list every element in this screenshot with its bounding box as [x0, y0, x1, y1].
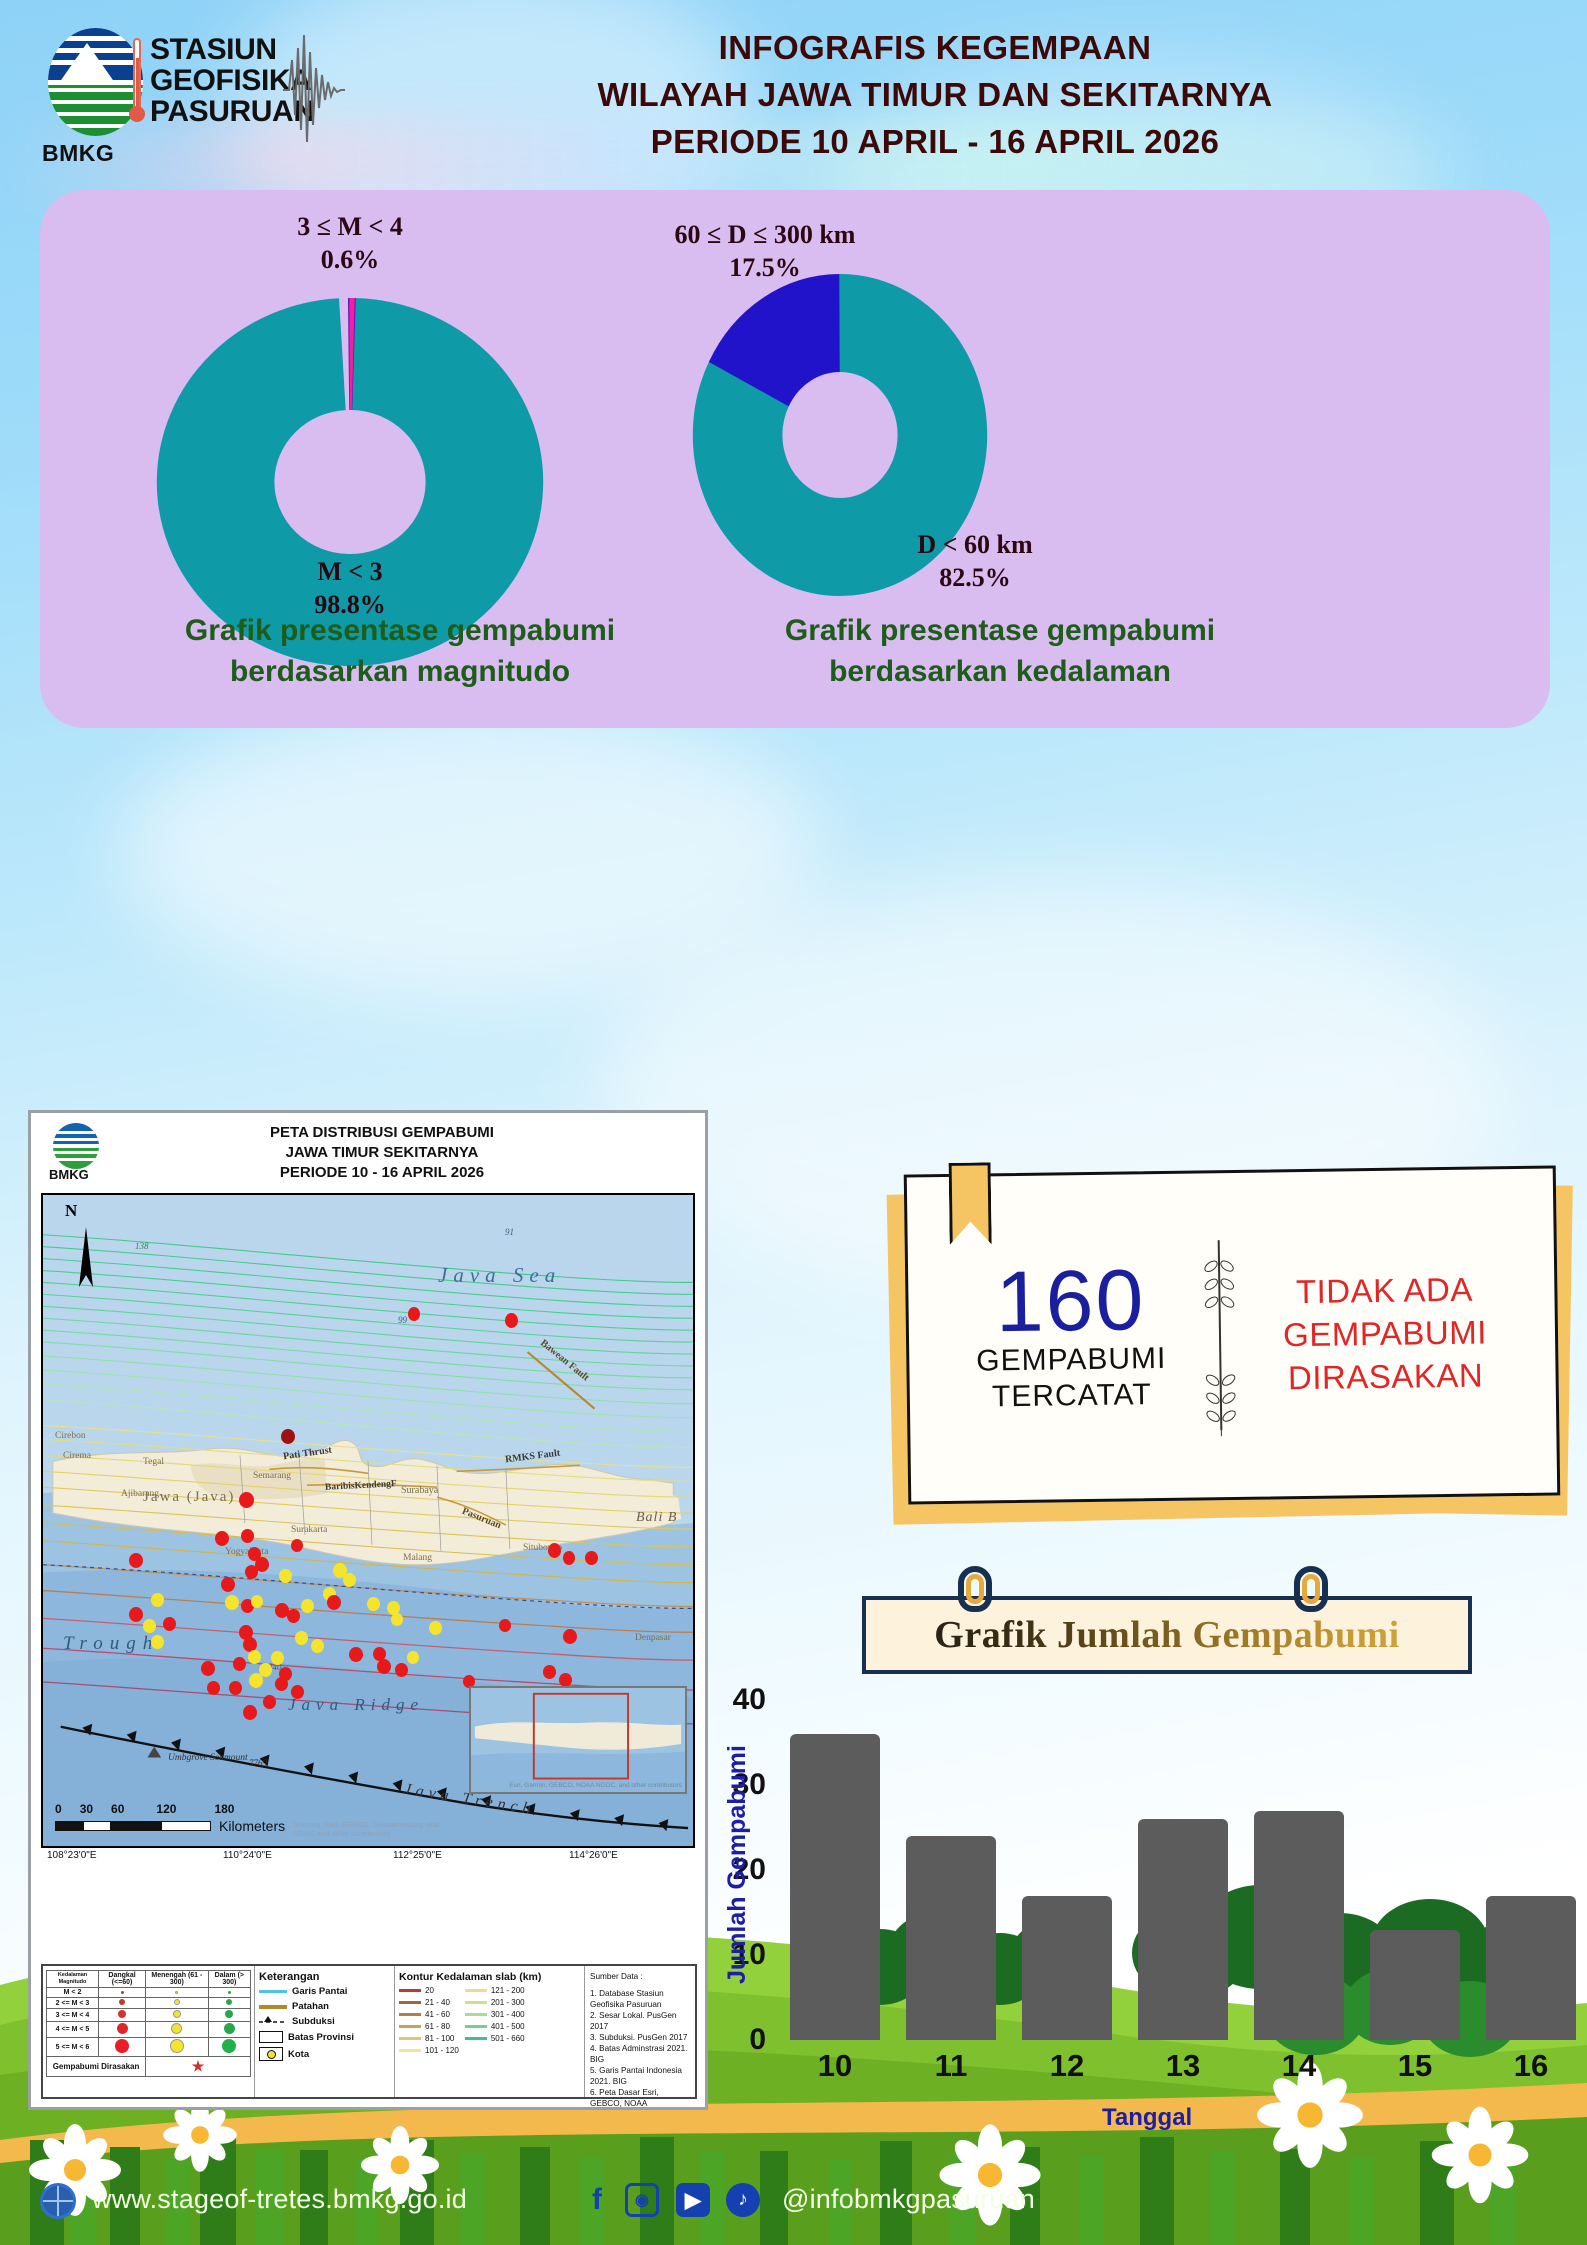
quake-dot — [291, 1539, 303, 1552]
quake-dot — [239, 1492, 254, 1508]
province-box-icon — [259, 2031, 283, 2043]
vine-icon — [1199, 1234, 1242, 1447]
instagram-icon[interactable]: ◉ — [625, 2183, 659, 2217]
quake-count-label-2: TERCATAT — [934, 1376, 1210, 1416]
sumber-item-3: 3. Subduksi. PusGen 2017 — [590, 2032, 690, 2043]
depth-label-bottom-name: D < 60 km — [830, 528, 1120, 561]
depth-label-top-name: 60 ≤ D ≤ 300 km — [600, 218, 930, 251]
globe-icon — [40, 2183, 76, 2219]
bar-11 — [906, 1836, 996, 2040]
map-header: BMKG PETA DISTRIBUSI GEMPABUMI JAWA TIMU… — [31, 1113, 705, 1189]
website-url[interactable]: www.stageof-tretes.bmkg.go.id — [92, 2184, 467, 2215]
fault-line-icon — [259, 2005, 287, 2009]
quake-dot — [559, 1673, 572, 1687]
quake-dot — [301, 1599, 314, 1613]
map-title-line-2: JAWA TIMUR SEKITARNYA — [119, 1143, 645, 1163]
magnitude-label-bottom-name: M < 3 — [230, 555, 470, 588]
quake-dot — [311, 1639, 324, 1653]
quake-dot — [263, 1695, 276, 1709]
lon-label-4: 114°26'0"E — [569, 1850, 618, 1861]
bar-10 — [790, 1734, 880, 2040]
title-line-2: WILAYAH JAWA TIMUR DAN SEKITARNYA — [330, 71, 1540, 118]
lon-label-2: 110°24'0"E — [223, 1850, 272, 1861]
matrix-row-1: 2 <= M < 3 — [47, 1998, 99, 2009]
felt-alert-line-3: DIRASAKAN — [1231, 1352, 1540, 1399]
quake-dot — [143, 1619, 156, 1633]
x-tick-16: 16 — [1514, 2048, 1548, 2084]
quake-dot — [229, 1681, 242, 1695]
bar-chart-y-label: Jumlah Gempabumi — [723, 1745, 752, 1984]
map-bmkg-logo: BMKG — [49, 1123, 105, 1183]
quake-dot — [343, 1573, 356, 1587]
kontur-col-left: 20 21 - 40 41 - 60 61 - 80 81 - 100 101 … — [399, 1986, 459, 2058]
bar-14 — [1254, 1811, 1344, 2041]
scale-tick-60: 60 — [111, 1802, 124, 1816]
keterangan-item-subduksi: Subduksi — [259, 2016, 390, 2027]
subduction-line-icon — [259, 2016, 287, 2027]
keterangan-item-patahan: Patahan — [259, 2001, 390, 2012]
quake-dot — [248, 1650, 261, 1664]
y-tick-0: 0 — [749, 2023, 766, 2057]
quake-dot — [251, 1595, 263, 1608]
title-line-1: INFOGRAFIS KEGEMPAAN — [330, 24, 1540, 71]
keterangan-item-garis-pantai: Garis Pantai — [259, 1986, 390, 1997]
quake-dot — [151, 1593, 164, 1607]
x-tick-12: 12 — [1050, 2048, 1084, 2084]
quake-dot — [249, 1673, 263, 1688]
magnitude-label-top-pct: 0.6% — [230, 243, 470, 276]
x-tick-15: 15 — [1398, 2048, 1432, 2084]
quake-dot — [543, 1665, 556, 1679]
thermometer-icon — [128, 38, 146, 134]
depth-label-bottom-pct: 82.5% — [830, 561, 1120, 594]
bar-13 — [1138, 1819, 1228, 2040]
keterangan-item-kota: Kota — [259, 2047, 390, 2061]
note-card-face: 160 GEMPABUMI TERCATAT — [904, 1165, 1561, 1504]
quake-dot — [281, 1429, 295, 1444]
quake-dot — [241, 1529, 254, 1543]
quake-dot — [215, 1531, 229, 1546]
quake-dot — [395, 1663, 408, 1677]
quake-count-value: 160 — [932, 1258, 1209, 1344]
quake-dot — [377, 1659, 391, 1674]
scale-tick-30: 30 — [80, 1802, 93, 1816]
longitude-axis: 108°23'0"E 110°24'0"E 112°25'0"E 114°26'… — [41, 1850, 695, 1868]
quake-dot — [275, 1677, 288, 1691]
sumber-item-6: 6. Peta Dasar Esri, GEBCO, NOAA — [590, 2087, 690, 2109]
quake-dot — [207, 1681, 220, 1695]
coastline-line-icon — [259, 1990, 287, 1993]
magnitude-label-top-name: 3 ≤ M < 4 — [230, 210, 470, 243]
matrix-row-4: 5 <= M < 6 — [47, 2038, 99, 2057]
city-icon — [259, 2047, 283, 2061]
percentage-charts-card: 3 ≤ M < 4 0.6% M < 3 98.8% Grafik presen… — [40, 190, 1550, 728]
sumber-item-2: 2. Sesar Lokal. PusGen 2017 — [590, 2010, 690, 2032]
matrix-corner-bottom: Magnitudo — [59, 1979, 87, 1985]
quake-dot — [429, 1621, 442, 1635]
quake-dot — [201, 1661, 215, 1676]
sumber-title: Sumber Data : — [590, 1971, 690, 1982]
scale-tick-0: 0 — [55, 1802, 62, 1816]
quake-dot — [129, 1607, 143, 1622]
matrix-col-0: Dangkal (<=60) — [99, 1971, 146, 1988]
kontur-col-right: 121 - 200 201 - 300 301 - 400 401 - 500 … — [465, 1986, 525, 2058]
quake-dot — [221, 1577, 235, 1592]
tiktok-icon[interactable]: ♪ — [726, 2183, 760, 2217]
scale-unit-label: Kilometers — [219, 1818, 285, 1834]
footer: www.stageof-tretes.bmkg.go.id f ◉ ▶ ♪ @i… — [0, 2140, 1587, 2245]
map-title-line-3: PERIODE 10 - 16 APRIL 2026 — [119, 1163, 645, 1183]
map-bmkg-label: BMKG — [49, 1167, 89, 1182]
map-canvas[interactable]: N Java Sea Jawa (Java) Trough Java Ridge… — [41, 1193, 695, 1848]
bar-15 — [1370, 1930, 1460, 2041]
quake-dot — [585, 1551, 598, 1565]
x-tick-13: 13 — [1166, 2048, 1200, 2084]
matrix-col-1: Menengah (61 - 300) — [146, 1971, 209, 1988]
quake-count-block: 160 GEMPABUMI TERCATAT — [908, 1258, 1210, 1416]
sumber-item-5: 5. Garis Pantai Indonesia 2021. BIG — [590, 2065, 690, 2087]
quake-count-label-1: GEMPABUMI — [933, 1340, 1209, 1380]
title-line-3: PERIODE 10 APRIL - 16 APRIL 2026 — [330, 118, 1540, 165]
depth-caption-line-1: Grafik presentase gempabumi — [600, 610, 1400, 651]
quake-dot — [295, 1631, 308, 1645]
quake-dot — [327, 1595, 341, 1610]
legend-keterangan: Keterangan Garis Pantai Patahan Subduksi… — [255, 1966, 395, 2097]
chart-banner: Grafik Jumlah Gempabumi — [862, 1582, 1472, 1674]
header: BMKG STASIUN GEOFISIKA PASURUAN INFOGRAF… — [0, 0, 1587, 185]
quake-dot — [287, 1609, 300, 1623]
quake-dot — [291, 1685, 304, 1699]
matrix-row-3: 4 <= M < 5 — [47, 2022, 99, 2038]
chart-banner-title: Grafik Jumlah Gempabumi — [862, 1596, 1472, 1674]
quake-dot — [163, 1617, 176, 1631]
summary-note-card: 160 GEMPABUMI TERCATAT — [890, 1170, 1580, 1530]
quake-dot — [243, 1705, 257, 1720]
kontur-title: Kontur Kedalaman slab (km) — [399, 1971, 580, 1983]
quake-dot — [408, 1307, 420, 1321]
x-tick-11: 11 — [935, 2048, 968, 2084]
map-panel: BMKG PETA DISTRIBUSI GEMPABUMI JAWA TIMU… — [28, 1110, 708, 2110]
legend-sumber-data: Sumber Data : 1. Database Stasiun Geofis… — [585, 1966, 695, 2097]
map-source-note: Sources: Esri, GEBCO, Geonames.org, and … — [293, 1820, 443, 1838]
matrix-row-0: M < 2 — [47, 1988, 99, 1998]
depth-caption-line-2: berdasarkan kedalaman — [600, 651, 1400, 692]
social-handle[interactable]: @infobmkgpasuruan — [782, 2184, 1035, 2215]
y-tick-40: 40 — [733, 1683, 766, 1717]
sumber-item-0: 1. Database Stasiun — [590, 1988, 690, 1999]
quake-dot — [407, 1651, 419, 1664]
quake-dot — [151, 1635, 164, 1649]
quake-dot — [563, 1551, 575, 1565]
quake-count-bar-chart: 40 30 20 10 0 Jumlah Gempabumi 10 11 12 … — [700, 1700, 1580, 2120]
bmkg-abbr-label: BMKG — [42, 140, 114, 167]
legend-symbol-matrix: Kedalaman Magnitudo Dangkal (<=60) Menen… — [43, 1966, 255, 2097]
map-title-line-1: PETA DISTRIBUSI GEMPABUMI — [119, 1123, 645, 1143]
legend-kontur: Kontur Kedalaman slab (km) 20 21 - 40 41… — [395, 1966, 585, 2097]
depth-chart-caption: Grafik presentase gempabumi berdasarkan … — [600, 610, 1400, 692]
keterangan-item-batas-provinsi: Batas Provinsi — [259, 2031, 390, 2043]
page-title: INFOGRAFIS KEGEMPAAN WILAYAH JAWA TIMUR … — [330, 24, 1540, 165]
youtube-icon[interactable]: ▶ — [676, 2183, 710, 2217]
quake-dot — [367, 1597, 380, 1611]
quake-dot — [499, 1619, 511, 1632]
felt-alert-line-1: TIDAK ADA — [1230, 1266, 1539, 1313]
scale-tick-120: 120 — [156, 1802, 176, 1816]
quake-dot — [129, 1553, 143, 1568]
sky-blob — [120, 700, 820, 1000]
bar-chart-x-label: Tanggal — [1102, 2104, 1192, 2132]
quake-dot — [548, 1543, 561, 1558]
north-arrow-icon — [71, 1217, 101, 1297]
quake-dot — [391, 1613, 403, 1626]
legend-felt-star-icon: ★ — [146, 2057, 251, 2077]
quake-dot — [563, 1629, 577, 1644]
quake-dot — [279, 1569, 292, 1583]
bar-12 — [1022, 1896, 1112, 2041]
felt-alert-block: TIDAK ADA GEMPABUMI DIRASAKAN — [1230, 1266, 1556, 1400]
magnitude-slice-label-top: 3 ≤ M < 4 0.6% — [230, 210, 470, 276]
keterangan-title: Keterangan — [259, 1971, 390, 1983]
sumber-item-1: Geofisika Pasuruan — [590, 1999, 690, 2010]
quake-dot — [271, 1651, 284, 1665]
depth-slice-label-bottom: D < 60 km 82.5% — [830, 528, 1120, 594]
quake-dot — [349, 1647, 363, 1662]
quake-dot — [225, 1595, 239, 1610]
map-title: PETA DISTRIBUSI GEMPABUMI JAWA TIMUR SEK… — [119, 1123, 645, 1183]
quake-dot — [233, 1657, 246, 1671]
matrix-col-2: Dalam (> 300) — [208, 1971, 250, 1988]
quake-dot — [505, 1313, 518, 1328]
matrix-corner-top: Kedalaman — [58, 1972, 87, 1978]
matrix-row-2: 3 <= M < 4 — [47, 2009, 99, 2022]
sumber-item-4: 4. Batas Adminstrasi 2021. BIG — [590, 2043, 690, 2065]
scale-tick-180: 180 — [214, 1802, 234, 1816]
x-tick-14: 14 — [1282, 2048, 1316, 2084]
bar-chart-plot: 10 11 12 13 14 15 16 Tanggal — [772, 1700, 1580, 2040]
lon-label-3: 112°25'0"E — [393, 1850, 442, 1861]
legend-felt-label: Gempabumi Dirasakan — [47, 2057, 146, 2077]
felt-alert-line-2: GEMPABUMI — [1231, 1309, 1540, 1356]
map-scale-bar: 0 30 60 120 180 Kilometers — [55, 1802, 285, 1834]
vine-divider-icon — [1218, 1240, 1223, 1430]
bar-16 — [1486, 1896, 1576, 2041]
inset-source-note: Esri, Garmin, GEBCO, NOAA NGDC, and othe… — [509, 1782, 682, 1790]
facebook-icon[interactable]: f — [580, 2183, 614, 2217]
map-legend: Kedalaman Magnitudo Dangkal (<=60) Menen… — [41, 1964, 697, 2099]
map-inset: Esri, Garmin, GEBCO, NOAA NGDC, and othe… — [469, 1686, 687, 1794]
x-tick-10: 10 — [818, 2048, 852, 2084]
lon-label-1: 108°23'0"E — [47, 1850, 97, 1861]
quake-dot — [245, 1565, 258, 1579]
